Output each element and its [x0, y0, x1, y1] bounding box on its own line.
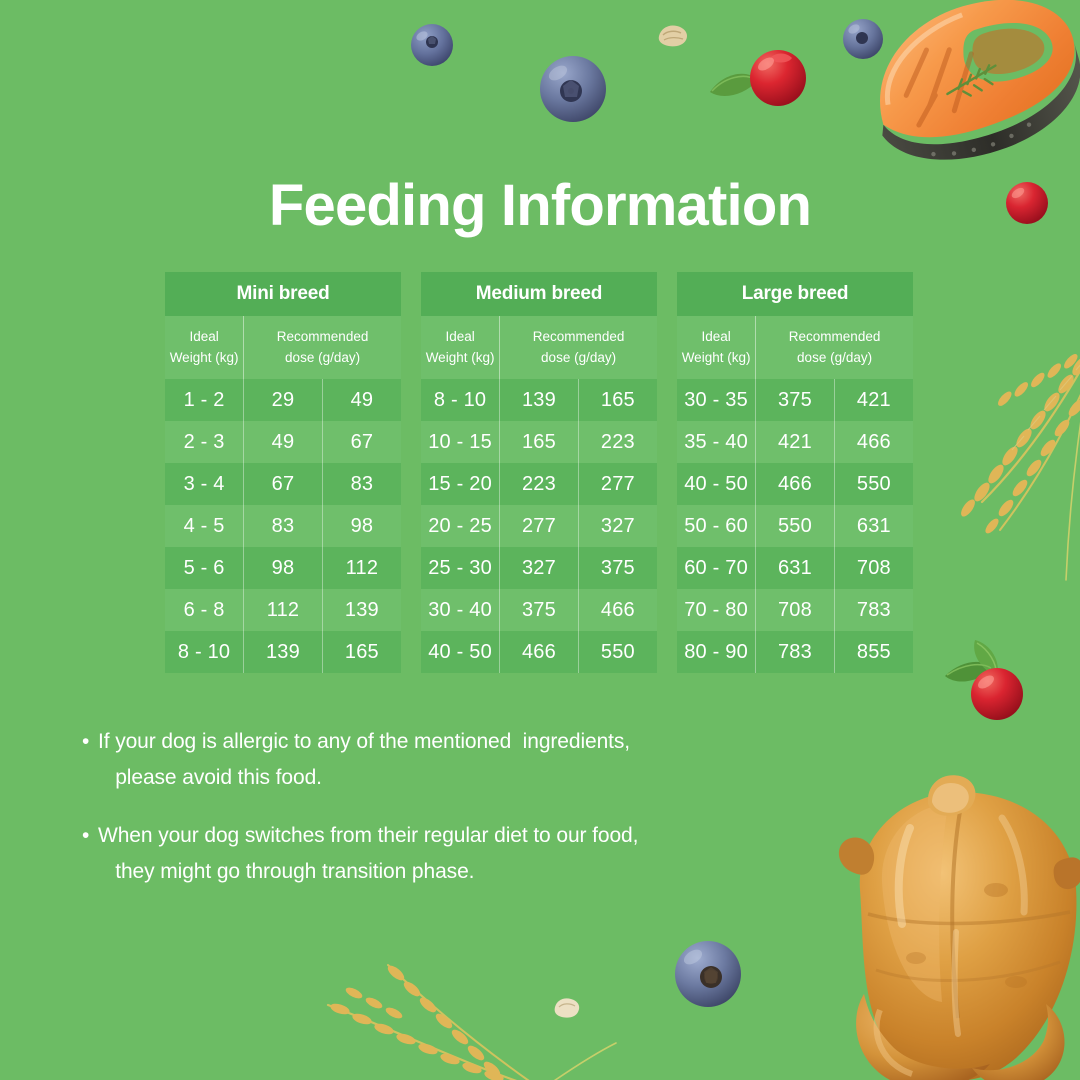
cell-dose-max: 550 [578, 631, 657, 673]
subheader-recommended-dose-mini: Recommended dose (g/day) [244, 316, 401, 379]
table-row: 80 - 90783855 [677, 631, 913, 673]
cell-dose-max: 223 [578, 421, 657, 463]
table-subheader-row: Ideal Weight (kg) Recommended dose (g/da… [165, 316, 401, 379]
table-mini-breed: Mini breed Ideal Weight (kg) Recommended… [165, 272, 401, 673]
table-row: 4 - 58398 [165, 505, 401, 547]
cell-dose-max: 165 [322, 631, 401, 673]
table-title-row: Mini breed [165, 272, 401, 316]
subheader-recommended-dose-medium: Recommended dose (g/day) [500, 316, 657, 379]
cell-weight: 80 - 90 [677, 631, 756, 673]
note-text: When your dog switches from their regula… [98, 818, 638, 890]
cell-weight: 5 - 6 [165, 547, 244, 589]
cell-dose-min: 783 [756, 631, 835, 673]
subheader-recommended-dose-large: Recommended dose (g/day) [756, 316, 913, 379]
cell-dose-max: 83 [322, 463, 401, 505]
table-medium-breed: Medium breed Ideal Weight (kg) Recommend… [421, 272, 657, 673]
blueberry-icon-top-left [409, 22, 455, 68]
cell-weight: 3 - 4 [165, 463, 244, 505]
table-row: 35 - 40421466 [677, 421, 913, 463]
notes-list: • If your dog is allergic to any of the … [82, 724, 912, 912]
feeding-tables: Mini breed Ideal Weight (kg) Recommended… [165, 272, 915, 673]
rice-stalk-icon-bottom [318, 945, 618, 1080]
table-row: 60 - 70631708 [677, 547, 913, 589]
cell-dose-max: 708 [834, 547, 913, 589]
cell-dose-min: 83 [244, 505, 323, 547]
cell-dose-min: 165 [500, 421, 579, 463]
cell-weight: 60 - 70 [677, 547, 756, 589]
cell-dose-min: 139 [244, 631, 323, 673]
list-item: • If your dog is allergic to any of the … [82, 724, 912, 796]
breed-title-mini: Mini breed [165, 272, 401, 316]
cell-weight: 40 - 50 [421, 631, 500, 673]
cell-dose-max: 466 [834, 421, 913, 463]
cell-dose-max: 277 [578, 463, 657, 505]
cell-dose-max: 327 [578, 505, 657, 547]
cell-dose-max: 631 [834, 505, 913, 547]
cell-weight: 2 - 3 [165, 421, 244, 463]
cell-weight: 30 - 40 [421, 589, 500, 631]
table-row: 40 - 50466550 [677, 463, 913, 505]
cell-dose-max: 421 [834, 379, 913, 421]
table-row: 8 - 10139165 [165, 631, 401, 673]
cell-weight: 40 - 50 [677, 463, 756, 505]
cranberry-icon-top [700, 38, 810, 118]
rice-stalk-icon-right [930, 330, 1080, 620]
cell-weight: 10 - 15 [421, 421, 500, 463]
table-row: 6 - 8112139 [165, 589, 401, 631]
cell-weight: 30 - 35 [677, 379, 756, 421]
cell-dose-max: 112 [322, 547, 401, 589]
table-row: 25 - 30327375 [421, 547, 657, 589]
cell-weight: 6 - 8 [165, 589, 244, 631]
blueberry-icon-bottom [673, 939, 743, 1009]
cell-dose-min: 67 [244, 463, 323, 505]
cell-weight: 35 - 40 [677, 421, 756, 463]
cell-dose-max: 375 [578, 547, 657, 589]
cell-dose-min: 112 [244, 589, 323, 631]
cell-dose-max: 98 [322, 505, 401, 547]
cell-dose-min: 631 [756, 547, 835, 589]
table-subheader-row: Ideal Weight (kg) Recommended dose (g/da… [677, 316, 913, 379]
cell-dose-max: 165 [578, 379, 657, 421]
table-row: 2 - 34967 [165, 421, 401, 463]
salmon-steak-icon [850, 0, 1080, 190]
cell-dose-max: 550 [834, 463, 913, 505]
table-row: 15 - 20223277 [421, 463, 657, 505]
page-title: Feeding Information [0, 176, 1080, 237]
oat-flake-icon-bottom [551, 993, 583, 1021]
cell-weight: 4 - 5 [165, 505, 244, 547]
note-text: If your dog is allergic to any of the me… [98, 724, 630, 796]
breed-title-large: Large breed [677, 272, 913, 316]
cell-weight: 1 - 2 [165, 379, 244, 421]
cell-dose-min: 550 [756, 505, 835, 547]
breed-title-medium: Medium breed [421, 272, 657, 316]
table-row: 10 - 15165223 [421, 421, 657, 463]
cell-dose-min: 49 [244, 421, 323, 463]
cell-weight: 8 - 10 [165, 631, 244, 673]
cranberry-icon-right-lower [935, 620, 1045, 730]
cell-dose-min: 375 [500, 589, 579, 631]
cell-dose-max: 466 [578, 589, 657, 631]
table-row: 40 - 50466550 [421, 631, 657, 673]
bullet-icon: • [82, 818, 98, 890]
subheader-ideal-weight-medium: Ideal Weight (kg) [421, 316, 500, 379]
cell-dose-min: 98 [244, 547, 323, 589]
cell-dose-max: 67 [322, 421, 401, 463]
cell-weight: 8 - 10 [421, 379, 500, 421]
table-large-breed: Large breed Ideal Weight (kg) Recommende… [677, 272, 913, 673]
cell-weight: 25 - 30 [421, 547, 500, 589]
cell-weight: 20 - 25 [421, 505, 500, 547]
cell-dose-min: 708 [756, 589, 835, 631]
cell-dose-max: 139 [322, 589, 401, 631]
cell-dose-min: 139 [500, 379, 579, 421]
cell-dose-min: 421 [756, 421, 835, 463]
cell-dose-min: 223 [500, 463, 579, 505]
cell-dose-max: 49 [322, 379, 401, 421]
cell-dose-min: 29 [244, 379, 323, 421]
cell-dose-min: 466 [500, 631, 579, 673]
cell-weight: 15 - 20 [421, 463, 500, 505]
bullet-icon: • [82, 724, 98, 796]
table-row: 30 - 40375466 [421, 589, 657, 631]
cell-dose-min: 327 [500, 547, 579, 589]
table-subheader-row: Ideal Weight (kg) Recommended dose (g/da… [421, 316, 657, 379]
table-row: 8 - 10139165 [421, 379, 657, 421]
subheader-ideal-weight-mini: Ideal Weight (kg) [165, 316, 244, 379]
oat-flake-icon-top [655, 20, 691, 50]
table-row: 50 - 60550631 [677, 505, 913, 547]
cell-dose-max: 855 [834, 631, 913, 673]
cell-dose-min: 375 [756, 379, 835, 421]
cell-dose-max: 783 [834, 589, 913, 631]
subheader-ideal-weight-large: Ideal Weight (kg) [677, 316, 756, 379]
table-title-row: Medium breed [421, 272, 657, 316]
table-row: 5 - 698112 [165, 547, 401, 589]
cell-weight: 50 - 60 [677, 505, 756, 547]
table-row: 30 - 35375421 [677, 379, 913, 421]
table-title-row: Large breed [677, 272, 913, 316]
list-item: • When your dog switches from their regu… [82, 818, 912, 890]
blueberry-icon-top-right [841, 17, 885, 61]
blueberry-icon-top-center [538, 54, 608, 124]
table-row: 1 - 22949 [165, 379, 401, 421]
table-row: 70 - 80708783 [677, 589, 913, 631]
cell-weight: 70 - 80 [677, 589, 756, 631]
table-row: 3 - 46783 [165, 463, 401, 505]
cell-dose-min: 466 [756, 463, 835, 505]
cell-dose-min: 277 [500, 505, 579, 547]
table-row: 20 - 25277327 [421, 505, 657, 547]
